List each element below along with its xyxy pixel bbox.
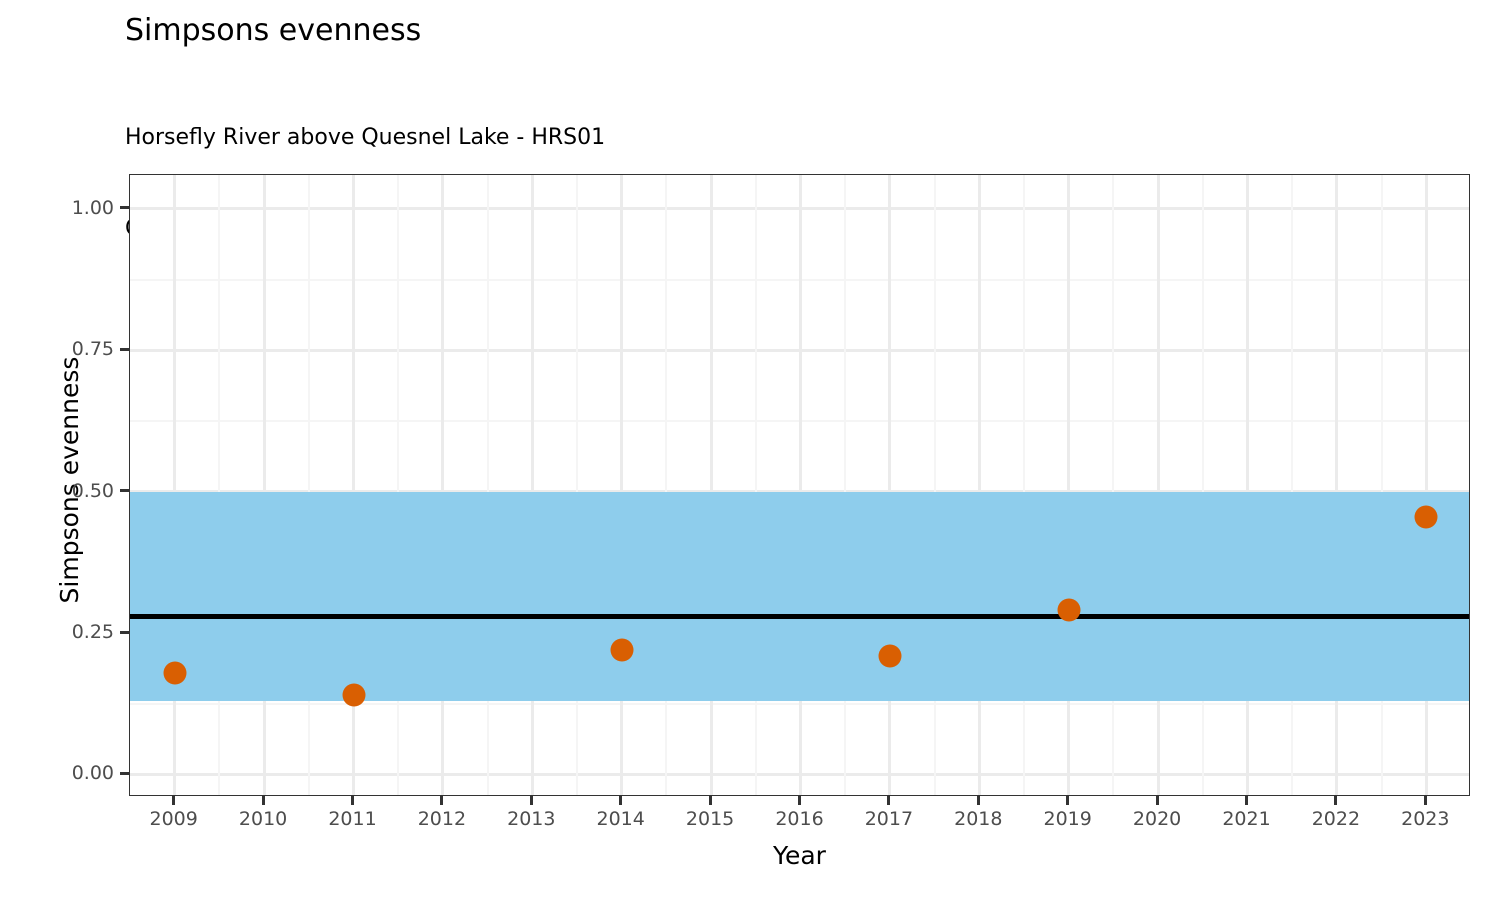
x-axis-tick-label: 2017 [844,808,934,830]
gridline-vertical-major [173,175,176,795]
x-axis-tick-mark [619,796,622,805]
gridline-vertical-minor [487,175,489,795]
chart-subtitle-line-1: Horsefly River above Quesnel Lake - HRS0… [125,123,1425,153]
gridline-vertical-major [441,175,444,795]
reference-band [130,492,1469,701]
x-axis-tick-mark [351,796,354,805]
gridline-vertical-minor [1023,175,1025,795]
x-axis-tick-label: 2011 [308,808,398,830]
gridline-vertical-major [531,175,534,795]
gridline-vertical-minor [665,175,667,795]
x-axis-tick-mark [172,796,175,805]
y-axis-tick-label: 0.50 [44,480,114,502]
gridline-vertical-minor [934,175,936,795]
y-axis-tick-mark [120,206,129,209]
y-axis-tick-label: 0.75 [44,338,114,360]
x-axis-tick-mark [262,796,265,805]
data-point [342,684,365,707]
x-axis-tick-mark [1156,796,1159,805]
gridline-vertical-major [799,175,802,795]
x-axis-tick-label: 2010 [218,808,308,830]
gridline-vertical-minor [397,175,399,795]
x-axis-tick-mark [977,796,980,805]
x-axis-tick-label: 2020 [1112,808,1202,830]
gridline-vertical-minor [1112,175,1114,795]
x-axis-tick-label: 2021 [1202,808,1292,830]
gridline-vertical-major [1067,175,1070,795]
x-axis-tick-label: 2022 [1291,808,1381,830]
data-point [1057,599,1080,622]
gridline-vertical-major [1246,175,1249,795]
gridline-vertical-minor [755,175,757,795]
x-axis-tick-label: 2023 [1380,808,1470,830]
gridline-vertical-major [1157,175,1160,795]
gridline-vertical-minor [1381,175,1383,795]
gridline-vertical-major [978,175,981,795]
data-point [610,638,633,661]
plot-panel [129,174,1470,796]
chart-title: Simpsons evenness [125,14,1425,49]
x-axis-tick-mark [530,796,533,805]
x-axis-title: Year [129,841,1470,870]
x-axis-tick-label: 2015 [665,808,755,830]
x-axis-tick-mark [709,796,712,805]
y-axis-tick-label: 0.25 [44,621,114,643]
chart-root: Simpsons evenness Horsefly River above Q… [0,0,1500,900]
gridline-vertical-minor [1291,175,1293,795]
x-axis-tick-mark [887,796,890,805]
x-axis-tick-mark [1424,796,1427,805]
x-axis-tick-label: 2018 [933,808,1023,830]
data-point [163,661,186,684]
x-axis-tick-label: 2016 [755,808,845,830]
data-point [878,644,901,667]
gridline-vertical-major [1425,175,1428,795]
data-point [1415,506,1438,529]
gridline-vertical-minor [1202,175,1204,795]
x-axis-tick-label: 2009 [129,808,219,830]
gridline-vertical-major [888,175,891,795]
y-axis-tick-label: 0.00 [44,762,114,784]
gridline-vertical-major [1335,175,1338,795]
x-axis-tick-label: 2013 [486,808,576,830]
y-axis-tick-mark [120,489,129,492]
gridline-vertical-minor [576,175,578,795]
x-axis-tick-mark [1334,796,1337,805]
x-axis-tick-mark [440,796,443,805]
reference-line [130,614,1469,619]
x-axis-tick-mark [798,796,801,805]
x-axis-tick-mark [1245,796,1248,805]
gridline-vertical-minor [308,175,310,795]
x-axis-tick-label: 2019 [1023,808,1113,830]
gridline-vertical-major [710,175,713,795]
y-axis-tick-mark [120,631,129,634]
x-axis-tick-mark [1066,796,1069,805]
x-axis-tick-label: 2014 [576,808,666,830]
gridline-vertical-major [620,175,623,795]
gridline-vertical-minor [844,175,846,795]
gridline-vertical-minor [218,175,220,795]
y-axis-tick-label: 1.00 [44,197,114,219]
y-axis-tick-mark [120,772,129,775]
x-axis-tick-label: 2012 [397,808,487,830]
y-axis-tick-mark [120,348,129,351]
gridline-vertical-major [263,175,266,795]
